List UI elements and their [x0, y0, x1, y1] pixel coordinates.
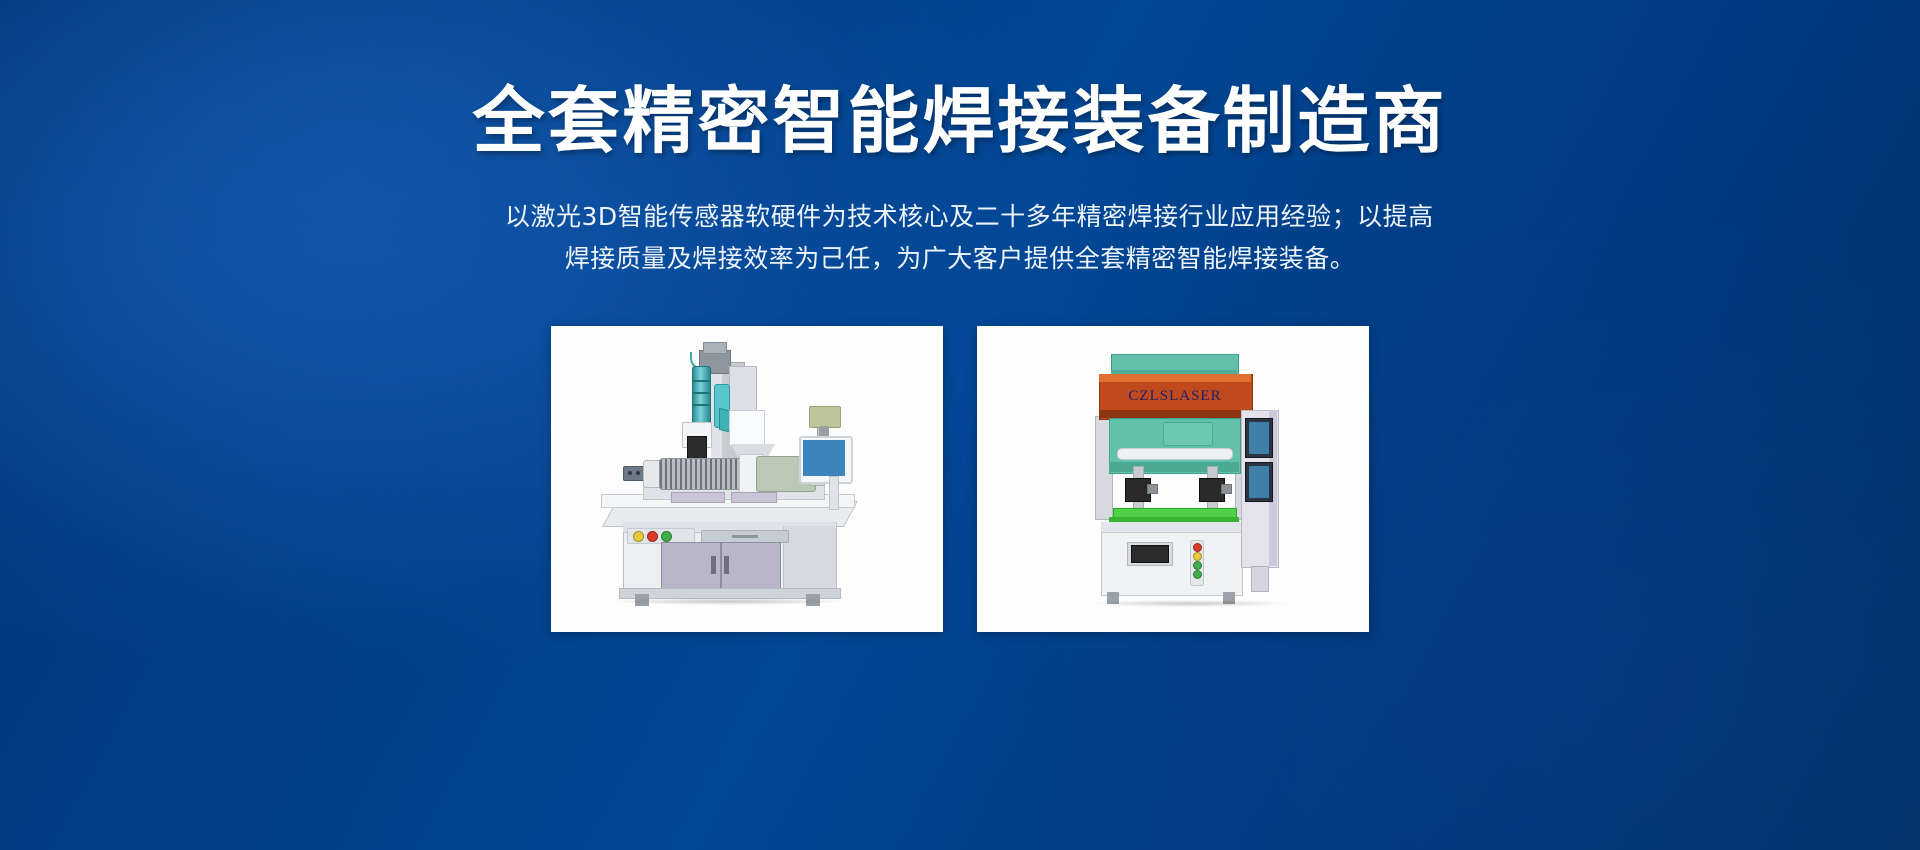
machine-illustration-vertical-welder: CZLSLASER: [977, 326, 1369, 632]
machine-cabinet-side: [783, 526, 836, 592]
side-monitor-bottom: [1245, 462, 1273, 502]
monitor-arm: [829, 476, 839, 510]
product-image-gallery: CZLSLASER: [551, 326, 1369, 632]
laser-ring-1: [692, 380, 709, 382]
machine-housing-window: [1163, 422, 1213, 446]
machine-base-display: [1131, 545, 1169, 563]
cabinet-handle-left: [711, 556, 716, 574]
product-card-right[interactable]: CZLSLASER: [977, 326, 1369, 632]
indicator-red-icon: [647, 531, 658, 542]
machine-side-cabinet-foot: [1251, 566, 1269, 592]
marketing-banner: 全套精密智能焊接装备制造商 以激光3D智能传感器软硬件为技术核心及二十多年精密焊…: [0, 0, 1920, 850]
machine-bellows-cover: [659, 458, 745, 490]
laser-ring-3: [692, 404, 709, 406]
cabinet-door-right: [721, 542, 781, 590]
button-red-icon[interactable]: [1193, 543, 1202, 552]
hmi-panel: [809, 406, 841, 428]
machine-cross-rail: [1117, 448, 1233, 460]
indicator-yellow-icon: [633, 531, 644, 542]
subtitle-line-1: 以激光3D智能传感器软硬件为技术核心及二十多年精密焊接行业应用经验；以提高: [505, 196, 1415, 238]
subtitle-text: 以激光3D智能传感器软硬件为技术核心及二十多年精密焊接行业应用经验；以提高 焊接…: [505, 196, 1415, 280]
button-green-secondary-icon[interactable]: [1193, 570, 1202, 579]
indicator-green-icon: [661, 531, 672, 542]
machine-brand-banner-bottom: [1099, 410, 1251, 418]
product-card-left[interactable]: [551, 326, 943, 632]
side-monitor-top: [1245, 418, 1273, 458]
machine-ground-shadow: [1089, 600, 1289, 607]
machine-brand-logo-text: CZLSLASER: [1099, 382, 1251, 410]
machine-control-box: [729, 410, 765, 446]
button-green-icon[interactable]: [1193, 561, 1202, 570]
machine-work-fixture-left: [671, 492, 725, 503]
machine-base-cabinet-top: [1101, 522, 1241, 533]
cabinet-handle-right: [724, 556, 729, 574]
machine-brand-banner-top: [1099, 374, 1251, 382]
button-yellow-icon[interactable]: [1193, 552, 1202, 561]
laser-head-barrel: [692, 366, 711, 430]
machine-ground-shadow: [611, 598, 847, 605]
welding-head-left-nozzle: [1147, 484, 1158, 494]
machine-housing-shade: [1109, 462, 1239, 472]
monitor-screen: [803, 440, 845, 476]
subtitle-line-2: 焊接质量及焊接效率为己任，为广大客户提供全套精密智能焊接装备。: [505, 238, 1415, 280]
page-title: 全套精密智能焊接装备制造商: [0, 62, 1920, 167]
laser-ring-2: [692, 392, 709, 394]
machine-illustration-benchtop-welder: [551, 326, 943, 632]
machine-work-fixture-right: [731, 492, 777, 503]
welding-head-right-nozzle: [1221, 484, 1232, 494]
